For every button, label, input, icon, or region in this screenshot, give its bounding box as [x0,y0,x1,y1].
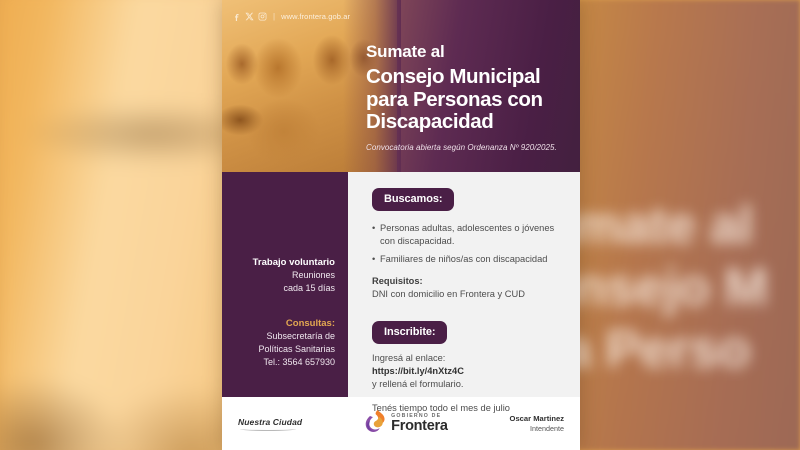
background-blur-line-2: onsejo M [556,257,800,319]
signup-line-2: y rellená el formulario. [372,378,564,391]
background-blur-line-1: umate al [556,195,800,257]
facebook-icon[interactable] [232,12,241,21]
background-blurred-text: umate al onsejo M ra Perso [556,195,800,425]
frontera-logo: GOBIERNO DE Frontera [364,409,447,438]
flame-logo-icon [364,409,386,438]
list-item: Personas adultas, adolescentes o jóvenes… [372,222,564,247]
instagram-icon[interactable] [258,12,267,21]
hero-pretitle: Sumate al [366,42,570,62]
hero-title-line-3: Discapacidad [366,111,570,134]
hero-title: Consejo Municipal para Personas con Disc… [366,66,570,134]
poster-hero: | www.frontera.gob.ar Sumate al Consejo … [222,0,580,172]
social-bar: | www.frontera.gob.ar [232,12,350,21]
signup-block: Ingresá al enlace: https://bit.ly/4nXtz4… [372,352,564,415]
volunteer-info: Trabajo voluntario Reuniones cada 15 día… [232,256,335,295]
contact-phone: Tel.: 3564 657930 [232,356,335,369]
hero-title-line-2: para Personas con [366,89,570,112]
looking-for-badge: Buscamos: [372,188,454,211]
requirements-block: Requisitos: DNI con domicilio en Fronter… [372,275,564,301]
requirements-heading: Requisitos: [372,275,564,288]
contact-line-1: Subsecretaría de [232,330,335,343]
hero-title-line-1: Consejo Municipal [366,66,570,89]
volunteer-line-2: cada 15 días [232,282,335,295]
poster-body: Trabajo voluntario Reuniones cada 15 día… [222,172,580,397]
signup-line-1: Ingresá al enlace: [372,352,564,365]
volunteer-title: Trabajo voluntario [232,256,335,269]
contact-line-2: Políticas Sanitarias [232,343,335,356]
mayor-block: Oscar Martinez Intendente [510,414,564,434]
contact-heading: Consultas: [232,317,335,330]
contact-info: Consultas: Subsecretaría de Políticas Sa… [232,317,335,369]
looking-for-list: Personas adultas, adolescentes o jóvenes… [372,222,564,266]
social-separator: | [273,12,275,21]
mayor-name: Oscar Martinez [510,414,564,424]
hero-subtitle: Convocatoria abierta según Ordenanza Nº … [366,143,570,152]
requirements-body: DNI con domicilio en Frontera y CUD [372,288,564,301]
brand-name: Frontera [391,419,447,434]
mayor-role: Intendente [510,424,564,434]
poster-sidebar: Trabajo voluntario Reuniones cada 15 día… [222,172,348,397]
signup-link[interactable]: https://bit.ly/4nXtz4C [372,365,564,378]
x-twitter-icon[interactable] [245,12,254,21]
signup-badge: Inscribite: [372,321,447,344]
poster-main-content: Buscamos: Personas adultas, adolescentes… [348,172,580,397]
list-item: Familiares de niños/as con discapacidad [372,253,564,266]
website-url[interactable]: www.frontera.gob.ar [281,12,350,21]
city-slogan: Nuestra Ciudad [238,417,302,431]
brand-text: GOBIERNO DE Frontera [391,413,447,434]
volunteer-line-1: Reuniones [232,269,335,282]
hero-text-block: Sumate al Consejo Municipal para Persona… [366,42,570,152]
background-left-blur [0,0,240,450]
poster-card: | www.frontera.gob.ar Sumate al Consejo … [222,0,580,450]
spacer [372,301,564,321]
background-blur-line-3: ra Perso [556,319,800,381]
